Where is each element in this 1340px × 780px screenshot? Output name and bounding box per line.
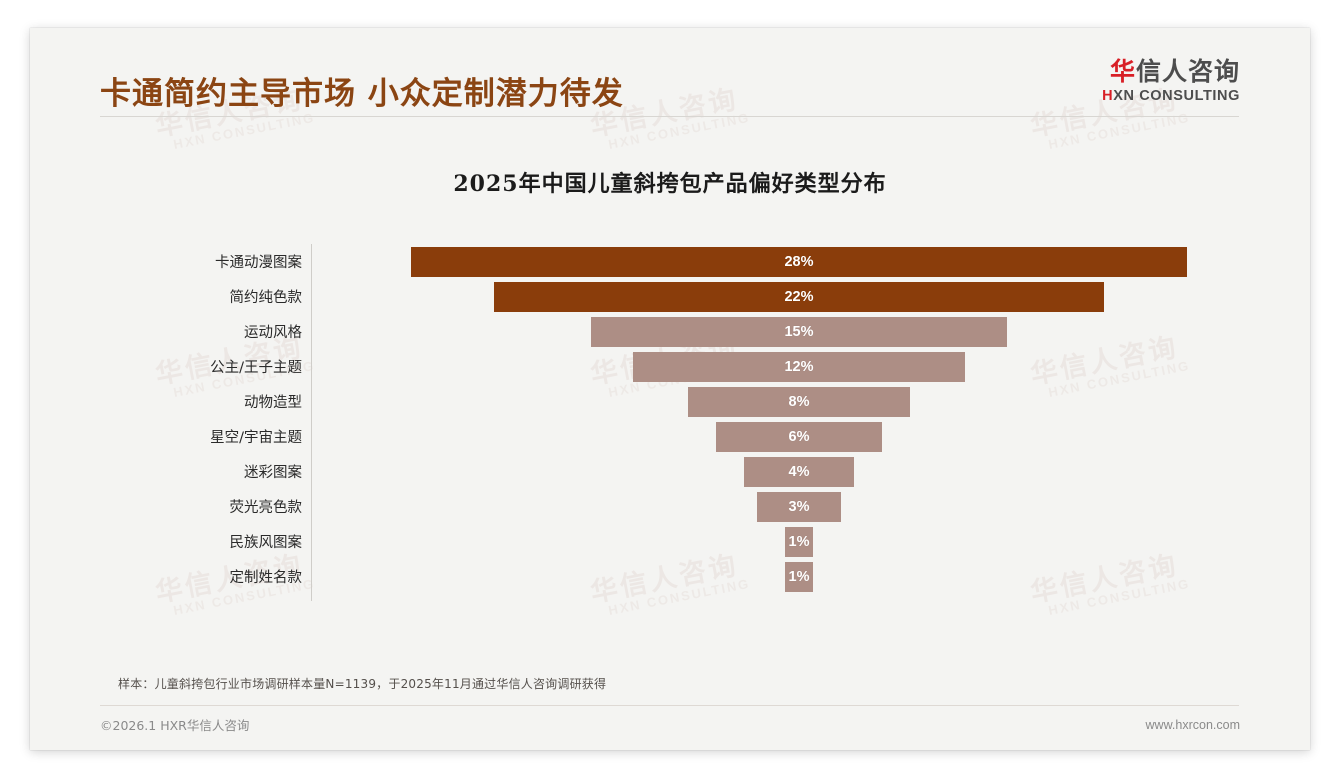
bar-category-label: 定制姓名款 — [30, 566, 302, 587]
bar-track: 28% — [311, 244, 1287, 279]
bar-category-label: 运动风格 — [30, 321, 302, 342]
bar-category-label: 荧光亮色款 — [30, 496, 302, 517]
chart-bar-rows: 卡通动漫图案28%简约纯色款22%运动风格15%公主/王子主题12%动物造型8%… — [30, 244, 1310, 594]
header-divider — [100, 116, 1239, 117]
chart-title: 2025年中国儿童斜挎包产品偏好类型分布 — [30, 166, 1310, 198]
bar-center: 4% — [311, 454, 1287, 489]
chart-bar[interactable]: 15% — [591, 317, 1007, 347]
chart-bar-row: 简约纯色款22% — [30, 279, 1310, 314]
bar-value-label: 8% — [789, 394, 810, 410]
slide-card: 华信人咨询 HXN CONSULTING 华信人咨询 HXN CONSULTIN… — [30, 28, 1310, 750]
bar-track: 6% — [311, 419, 1287, 454]
bar-center: 3% — [311, 489, 1287, 524]
bar-value-label: 22% — [784, 289, 813, 305]
website-url[interactable]: www.hxrcon.com — [1146, 718, 1240, 732]
chart-container: 2025年中国儿童斜挎包产品偏好类型分布 卡通动漫图案28%简约纯色款22%运动… — [30, 138, 1310, 612]
bar-value-label: 4% — [789, 464, 810, 480]
bar-center: 22% — [311, 279, 1287, 314]
bar-track: 3% — [311, 489, 1287, 524]
bar-track: 15% — [311, 314, 1287, 349]
bar-track: 22% — [311, 279, 1287, 314]
logo-english: HXN CONSULTING — [1102, 88, 1240, 104]
bar-track: 4% — [311, 454, 1287, 489]
bar-track: 1% — [311, 559, 1287, 594]
bar-category-label: 星空/宇宙主题 — [30, 426, 302, 447]
bar-value-label: 12% — [784, 359, 813, 375]
chart-plot-area: 卡通动漫图案28%简约纯色款22%运动风格15%公主/王子主题12%动物造型8%… — [30, 244, 1310, 612]
bar-category-label: 公主/王子主题 — [30, 356, 302, 377]
chart-bar[interactable]: 8% — [688, 387, 910, 417]
chart-bar-row: 民族风图案1% — [30, 524, 1310, 559]
bar-category-label: 简约纯色款 — [30, 286, 302, 307]
bar-category-label: 民族风图案 — [30, 531, 302, 552]
chart-bar-row: 运动风格15% — [30, 314, 1310, 349]
bar-track: 8% — [311, 384, 1287, 419]
chart-bar-row: 迷彩图案4% — [30, 454, 1310, 489]
bar-track: 1% — [311, 524, 1287, 559]
bar-center: 8% — [311, 384, 1287, 419]
copyright-text: ©2026.1 HXR华信人咨询 — [100, 715, 249, 734]
chart-bar-row: 星空/宇宙主题6% — [30, 419, 1310, 454]
logo-chinese: 华信人咨询 — [1102, 58, 1240, 86]
chart-bar[interactable]: 22% — [494, 282, 1104, 312]
bar-category-label: 动物造型 — [30, 391, 302, 412]
bar-category-label: 迷彩图案 — [30, 461, 302, 482]
logo-chinese-rest: 信人咨询 — [1136, 57, 1240, 86]
bar-center: 1% — [311, 524, 1287, 559]
bar-value-label: 1% — [789, 569, 810, 585]
chart-bar[interactable]: 12% — [633, 352, 966, 382]
bar-value-label: 15% — [784, 324, 813, 340]
footer-divider — [100, 705, 1239, 706]
bar-category-label: 卡通动漫图案 — [30, 251, 302, 272]
chart-bar-row: 公主/王子主题12% — [30, 349, 1310, 384]
chart-bar[interactable]: 1% — [785, 562, 813, 592]
source-note: 样本：儿童斜挎包行业市场调研样本量N=1139，于2025年11月通过华信人咨询… — [118, 675, 606, 692]
bar-value-label: 3% — [789, 499, 810, 515]
chart-bar[interactable]: 6% — [716, 422, 882, 452]
bar-center: 1% — [311, 559, 1287, 594]
chart-bar[interactable]: 4% — [744, 457, 855, 487]
logo-english-accent: H — [1102, 88, 1113, 104]
bar-value-label: 6% — [789, 429, 810, 445]
logo-chinese-accent: 华 — [1110, 57, 1136, 86]
page-title: 卡通简约主导市场 小众定制潜力待发 — [100, 68, 624, 113]
bar-center: 15% — [311, 314, 1287, 349]
chart-bar-row: 动物造型8% — [30, 384, 1310, 419]
bar-track: 12% — [311, 349, 1287, 384]
bar-center: 12% — [311, 349, 1287, 384]
bar-value-label: 1% — [789, 534, 810, 550]
chart-bar[interactable]: 3% — [757, 492, 840, 522]
logo-english-rest: XN CONSULTING — [1113, 88, 1240, 104]
chart-bar[interactable]: 28% — [411, 247, 1187, 277]
chart-bar-row: 定制姓名款1% — [30, 559, 1310, 594]
slide-footer: ©2026.1 HXR华信人咨询 www.hxrcon.com — [100, 715, 1240, 734]
chart-bar-row: 荧光亮色款3% — [30, 489, 1310, 524]
bar-center: 6% — [311, 419, 1287, 454]
chart-bar-row: 卡通动漫图案28% — [30, 244, 1310, 279]
bar-center: 28% — [311, 244, 1287, 279]
chart-bar[interactable]: 1% — [785, 527, 813, 557]
company-logo: 华信人咨询 HXN CONSULTING — [1102, 58, 1240, 104]
bar-value-label: 28% — [784, 254, 813, 270]
